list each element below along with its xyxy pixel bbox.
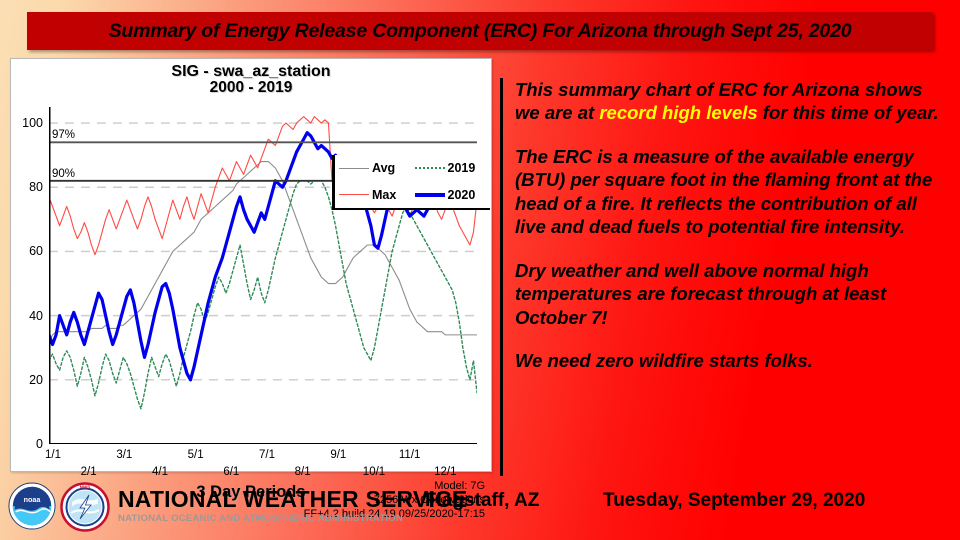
nws-wordmark: NATIONAL WEATHER SERVICE NATIONAL OCEANI… — [118, 488, 467, 524]
x-tick-label-3-1: 3/1 — [116, 449, 132, 461]
chart-title-line1: SIG - swa_az_station — [171, 63, 330, 80]
erc-chart-panel: SIG - swa_az_station 2000 - 2019 0204060… — [10, 58, 492, 472]
commentary-p1-part-b: for this time of year. — [758, 102, 939, 123]
legend-swatch-max-icon — [339, 194, 369, 195]
y-tick-label-0: 0 — [36, 437, 43, 451]
y-tick-label-40: 40 — [29, 309, 43, 323]
x-tick-label-5-1: 5/1 — [188, 449, 204, 461]
svg-text:noaa: noaa — [24, 495, 42, 504]
page-title: Summary of Energy Release Component (ERC… — [109, 20, 852, 43]
slide-title-bar: Summary of Energy Release Component (ERC… — [27, 12, 933, 50]
legend-label-2020: 2020 — [448, 188, 476, 202]
y-tick-label-100: 100 — [22, 116, 43, 130]
slide-footer: noaa NWS NATIONAL WEATHER SERVICE NATION… — [0, 476, 960, 540]
footer-office-name: Flagstaff, AZ — [425, 490, 539, 512]
y-tick-label-20: 20 — [29, 373, 43, 387]
reference-line-label-90: 90% — [52, 168, 75, 181]
legend-item-2020: 2020 — [415, 188, 491, 202]
legend-item-2019: 2019 — [415, 161, 491, 175]
y-tick-label-80: 80 — [29, 180, 43, 194]
nws-subtitle: NATIONAL OCEANIC AND ATMOSPHERIC ADMINIS… — [118, 513, 467, 524]
legend-item-max: Max — [339, 188, 415, 202]
chart-title-line2: 2000 - 2019 — [11, 80, 491, 96]
legend-label-2019: 2019 — [448, 161, 476, 175]
legend-label-avg: Avg — [372, 161, 395, 175]
legend-swatch-avg-icon — [339, 168, 369, 169]
x-tick-label-9-1: 9/1 — [330, 449, 346, 461]
x-tick-label-11-1: 11/1 — [399, 449, 421, 461]
svg-text:NWS: NWS — [80, 485, 91, 490]
y-tick-label-60: 60 — [29, 244, 43, 258]
x-tick-label-7-1: 7/1 — [259, 449, 275, 461]
nws-title: NATIONAL WEATHER SERVICE — [118, 488, 467, 511]
legend-swatch-2019-icon — [415, 167, 445, 169]
reference-line-label-97: 97% — [52, 129, 75, 142]
national-weather-service-logo-icon: NWS — [60, 482, 110, 532]
chart-legend: Avg 2019 Max 2020 — [332, 155, 490, 210]
commentary-highlight: record high levels — [599, 102, 757, 123]
commentary-paragraph-1: This summary chart of ERC for Arizona sh… — [515, 78, 950, 125]
legend-label-max: Max — [372, 188, 396, 202]
footer-date: Tuesday, September 29, 2020 — [603, 490, 865, 512]
legend-item-avg: Avg — [339, 161, 415, 175]
noaa-logo-icon: noaa — [8, 482, 56, 530]
commentary-paragraph-3: Dry weather and well above normal high t… — [515, 259, 950, 329]
commentary-paragraph-4: We need zero wildfire starts folks. — [515, 349, 950, 372]
commentary-panel: This summary chart of ERC for Arizona sh… — [500, 78, 950, 476]
x-tick-label-1-1: 1/1 — [45, 449, 61, 461]
commentary-paragraph-2: The ERC is a measure of the available en… — [515, 145, 950, 239]
legend-swatch-2020-icon — [415, 193, 445, 197]
chart-title: SIG - swa_az_station 2000 - 2019 — [11, 64, 491, 96]
